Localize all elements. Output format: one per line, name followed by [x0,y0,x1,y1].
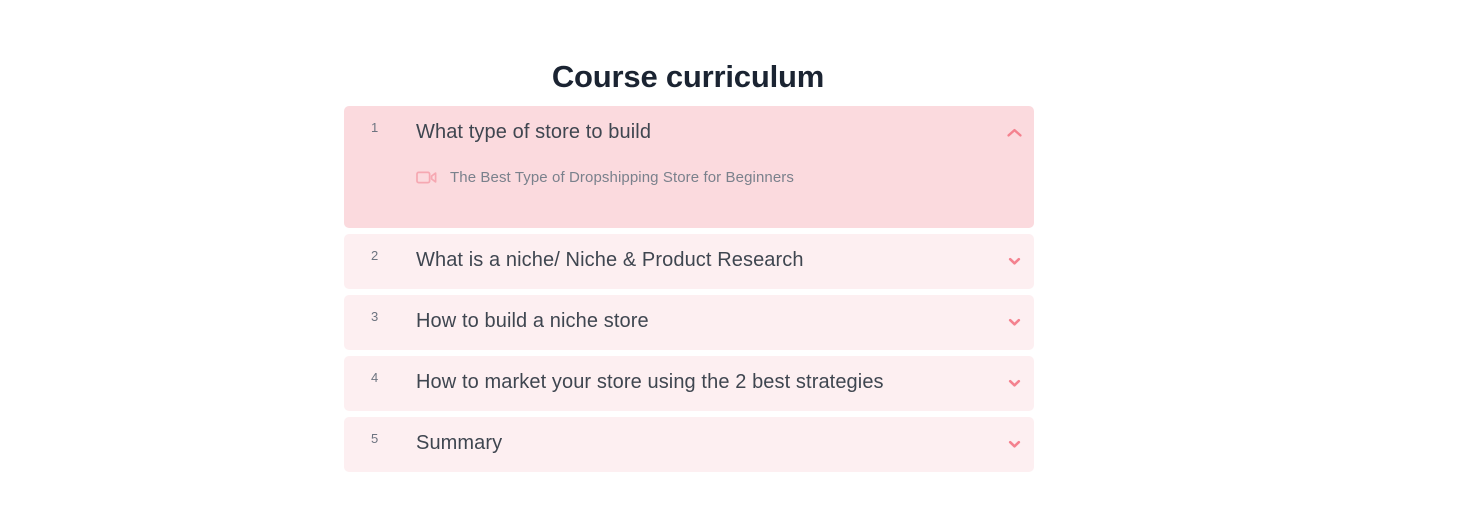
chevron-up-icon[interactable] [1003,122,1025,144]
section-title: What type of store to build [416,106,1034,146]
section-header[interactable]: 2 What is a niche/ Niche & Product Resea… [344,234,1034,289]
section-index: 5 [344,417,416,445]
section-index: 1 [344,106,416,134]
section-header[interactable]: 3 How to build a niche store [344,295,1034,350]
section-title: What is a niche/ Niche & Product Researc… [416,234,1034,274]
curriculum-page: Course curriculum 1 What type of store t… [0,0,1459,506]
chevron-down-icon[interactable] [1003,372,1025,394]
section-index: 3 [344,295,416,323]
curriculum-section[interactable]: 5 Summary [344,417,1034,472]
chevron-down-icon[interactable] [1003,311,1025,333]
section-title: How to build a niche store [416,295,1034,335]
section-index: 4 [344,356,416,384]
curriculum-section[interactable]: 1 What type of store to build [344,106,1034,228]
curriculum-section[interactable]: 4 How to market your store using the 2 b… [344,356,1034,411]
curriculum-section[interactable]: 2 What is a niche/ Niche & Product Resea… [344,234,1034,289]
page-title: Course curriculum [0,59,1376,95]
curriculum-accordion: 1 What type of store to build [344,106,1034,478]
curriculum-section[interactable]: 3 How to build a niche store [344,295,1034,350]
video-camera-icon [416,170,438,186]
lesson-item[interactable]: The Best Type of Dropshipping Store for … [344,161,1034,194]
lesson-name: The Best Type of Dropshipping Store for … [450,167,794,188]
section-title: Summary [416,417,1034,457]
section-header[interactable]: 5 Summary [344,417,1034,472]
chevron-down-icon[interactable] [1003,250,1025,272]
section-index: 2 [344,234,416,262]
section-title: How to market your store using the 2 bes… [416,356,1034,396]
section-header[interactable]: 4 How to market your store using the 2 b… [344,356,1034,411]
chevron-down-icon[interactable] [1003,433,1025,455]
lesson-list: The Best Type of Dropshipping Store for … [344,161,1034,228]
section-header[interactable]: 1 What type of store to build [344,106,1034,161]
